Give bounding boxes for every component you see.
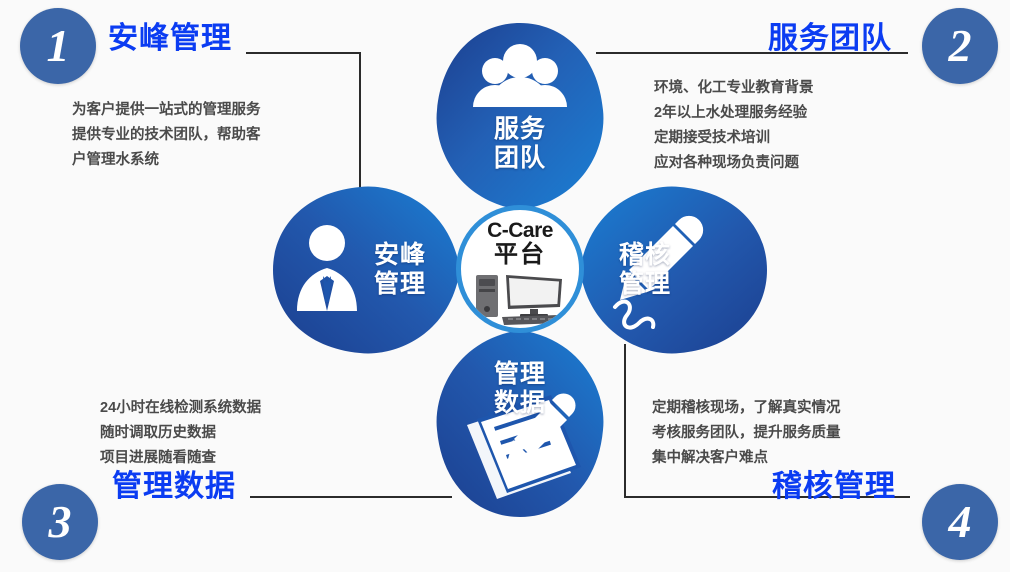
section-title-3: 管理数据 [112,472,236,502]
section-body-line: 项目进展随看随查 [100,446,261,471]
section-body-line: 定期接受技术培训 [654,126,814,151]
badge-number-4: 4 [922,484,998,560]
center-hub[interactable]: C-Care 平台 [456,205,584,333]
section-title-4: 稽核管理 [772,472,896,502]
badge-number-1: 1 [20,8,96,84]
section-title-1: 安峰管理 [108,24,232,54]
section-body-4: 定期稽核现场，了解真实情况考核服务团队，提升服务质量集中解决客户难点 [652,396,841,471]
badge-number-3: 3 [22,484,98,560]
section-body-line: 户管理水系统 [72,148,261,173]
section-body-line: 24小时在线检测系统数据 [100,396,261,421]
desktop-computer-icon [472,269,568,325]
section-body-3: 24小时在线检测系统数据随时调取历史数据项目进展随看随查 [100,396,261,471]
section-body-line: 环境、化工专业教育背景 [654,76,814,101]
section-body-2: 环境、化工专业教育背景2年以上水处理服务经验定期接受技术培训应对各种现场负责问题 [654,76,814,176]
section-body-line: 应对各种现场负责问题 [654,151,814,176]
hub-brand-cn: 平台 [494,243,546,267]
section-title-2: 服务团队 [768,24,892,54]
section-body-line: 集中解决客户难点 [652,446,841,471]
infographic-canvas: 服务 团队 安峰 管理 稽核 管理 管理 数据 C-Care 平台 [0,0,1010,572]
section-body-line: 为客户提供一站式的管理服务 [72,98,261,123]
section-body-1: 为客户提供一站式的管理服务提供专业的技术团队，帮助客户管理水系统 [72,98,261,173]
section-body-line: 提供专业的技术团队，帮助客 [72,123,261,148]
section-body-line: 2年以上水处理服务经验 [654,101,814,126]
section-body-line: 随时调取历史数据 [100,421,261,446]
badge-number-2: 2 [922,8,998,84]
hub-brand: C-Care [487,220,553,241]
section-body-line: 考核服务团队，提升服务质量 [652,421,841,446]
section-body-line: 定期稽核现场，了解真实情况 [652,396,841,421]
